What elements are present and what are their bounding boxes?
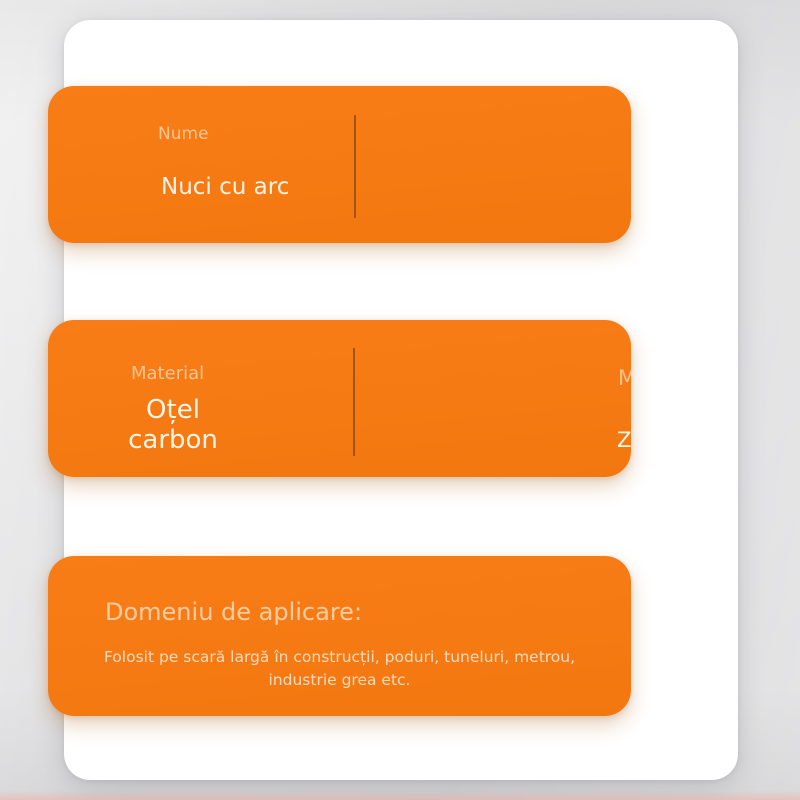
card-material-right-column: Metoda de prelucrare Zincat/Calcat fierb… <box>306 320 631 477</box>
name-label: Nume <box>158 124 209 144</box>
spec-card-application: Domeniu de aplicare: Folosit pe scară la… <box>48 556 631 716</box>
spec-card-material: Material Oțel carbon Metoda de prelucrar… <box>48 320 631 477</box>
card-name-left-column: Nume Nuci cu arc <box>48 86 306 243</box>
card-material-left-column: Material Oțel carbon <box>48 320 306 477</box>
material-value: Oțel carbon <box>48 396 306 456</box>
application-body-text: Folosit pe scară largă în construcții, p… <box>88 646 591 693</box>
name-value: Nuci cu arc <box>161 174 289 200</box>
processing-method-value: Zincat/Calcat fierbinte/rece <box>617 428 631 452</box>
card-split-layout: Material Oțel carbon Metoda de prelucrar… <box>48 320 631 477</box>
material-label: Material <box>131 363 204 384</box>
card-split-layout: Nume Nuci cu arc Specificații M8-M12 <box>48 86 631 243</box>
card-name-right-column: Specificații M8-M12 <box>306 86 631 243</box>
application-heading: Domeniu de aplicare: <box>105 598 362 626</box>
processing-method-label: Metoda de prelucrare <box>618 366 631 390</box>
spec-card-name: Nume Nuci cu arc Specificații M8-M12 <box>48 86 631 243</box>
